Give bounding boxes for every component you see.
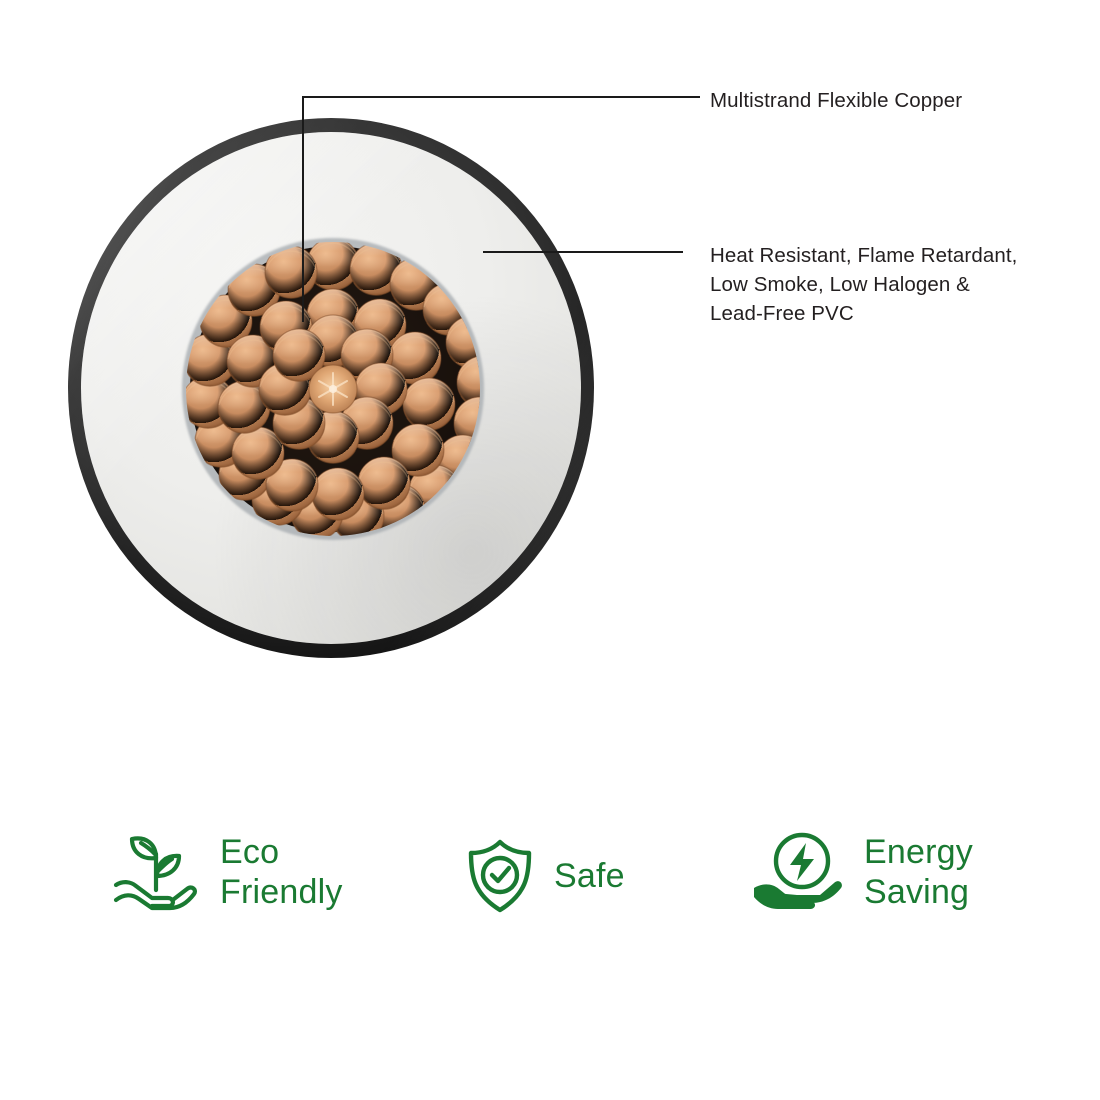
leader-line-pvc-horizontal bbox=[483, 251, 683, 253]
badge-label-safe: Safe bbox=[554, 856, 625, 896]
hand-lightning-icon bbox=[752, 828, 848, 916]
badge-label-energy-saving: Energy Saving bbox=[864, 832, 973, 912]
badge-eco-friendly: Eco Friendly bbox=[112, 828, 343, 916]
badge-safe: Safe bbox=[462, 836, 625, 916]
callout-label-copper: Multistrand Flexible Copper bbox=[710, 86, 1060, 115]
cable-cross-section-figure bbox=[62, 112, 602, 664]
hand-sprout-icon bbox=[112, 828, 204, 916]
feature-badge-row: Eco Friendly Safe Energy Saving bbox=[0, 818, 1100, 948]
leader-line-copper-vertical bbox=[302, 96, 304, 322]
callout-label-pvc: Heat Resistant, Flame Retardant, Low Smo… bbox=[710, 241, 1060, 328]
leader-line-copper-horizontal bbox=[302, 96, 700, 98]
copper-strand-bundle bbox=[62, 112, 602, 664]
shield-check-icon bbox=[462, 836, 538, 916]
badge-energy-saving: Energy Saving bbox=[752, 828, 973, 916]
badge-label-eco-friendly: Eco Friendly bbox=[220, 832, 343, 912]
